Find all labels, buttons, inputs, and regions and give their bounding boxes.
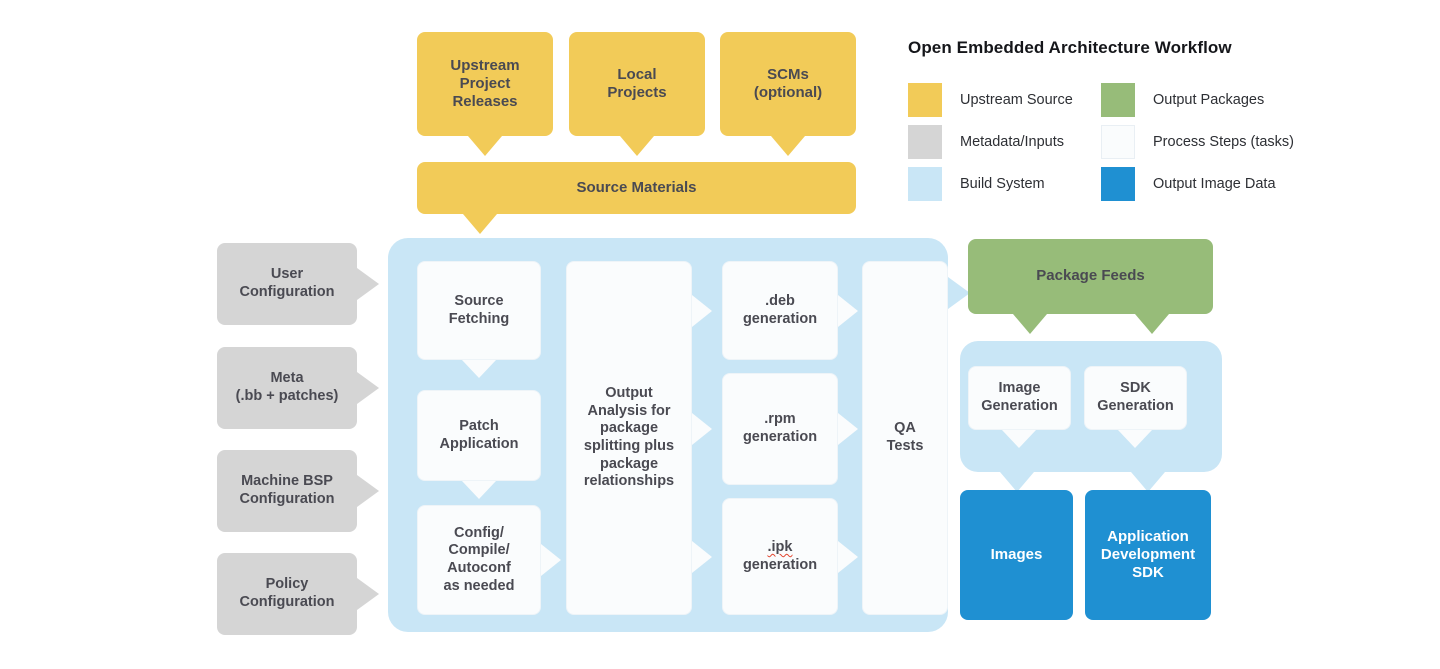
- task-deb-generation[interactable]: .deb generation: [722, 261, 838, 360]
- connector-local-projects-to-source-materials: [620, 136, 654, 156]
- node-label-generation: generation: [743, 557, 817, 573]
- connector-deb-to-qa-tests: [838, 295, 858, 327]
- node-label: Upstream Project Releases: [444, 57, 525, 112]
- node-policy-configuration[interactable]: Policy Configuration: [217, 553, 357, 635]
- node-package-feeds[interactable]: Package Feeds: [968, 239, 1213, 314]
- node-label: Source Fetching: [443, 293, 515, 328]
- legend-label: Metadata/Inputs: [960, 134, 1064, 150]
- connector-meta-to-build-system: [357, 372, 379, 404]
- upstream-source-swatch-icon: [908, 83, 942, 117]
- connector-output-panel-to-images: [1000, 472, 1034, 492]
- legend-item-upstream-source: Upstream Source: [908, 83, 1073, 117]
- connector-output-analysis-to-rpm: [692, 413, 712, 445]
- connector-policy-configuration-to-build-system: [357, 578, 379, 610]
- build-system-swatch-icon: [908, 167, 942, 201]
- node-label: .ipkgeneration: [737, 539, 823, 574]
- task-image-generation[interactable]: Image Generation: [968, 366, 1071, 430]
- legend-label: Build System: [960, 176, 1045, 192]
- task-sdk-generation[interactable]: SDK Generation: [1084, 366, 1187, 430]
- connector-output-analysis-to-deb: [692, 295, 712, 327]
- node-label: Output Analysis for package splitting pl…: [578, 385, 680, 491]
- node-label: Package Feeds: [1030, 267, 1150, 285]
- output-packages-swatch-icon: [1101, 83, 1135, 117]
- connector-package-feeds-to-image-generation: [1013, 314, 1047, 334]
- node-machine-bsp-configuration[interactable]: Machine BSP Configuration: [217, 450, 357, 532]
- node-label: QA Tests: [881, 420, 930, 455]
- legend-title: Open Embedded Architecture Workflow: [908, 38, 1232, 58]
- node-label: Images: [985, 546, 1049, 564]
- node-label: SDK Generation: [1091, 380, 1180, 415]
- connector-output-panel-to-application-sdk: [1131, 472, 1165, 492]
- process-steps-swatch-icon: [1101, 125, 1135, 159]
- legend-item-metadata-inputs: Metadata/Inputs: [908, 125, 1064, 159]
- legend: Open Embedded Architecture Workflow Upst…: [908, 38, 1308, 198]
- task-ipk-generation[interactable]: .ipkgeneration: [722, 498, 838, 615]
- output-image-data-swatch-icon: [1101, 167, 1135, 201]
- node-label-ipk: .ipk: [768, 539, 793, 555]
- node-user-configuration[interactable]: User Configuration: [217, 243, 357, 325]
- connector-user-configuration-to-build-system: [357, 268, 379, 300]
- node-scms-optional[interactable]: SCMs (optional): [720, 32, 856, 136]
- legend-item-build-system: Build System: [908, 167, 1045, 201]
- legend-item-output-image-data: Output Image Data: [1101, 167, 1276, 201]
- node-label: .deb generation: [737, 293, 823, 328]
- connector-scms-to-source-materials: [771, 136, 805, 156]
- connector-upstream-to-source-materials: [468, 136, 502, 156]
- connector-output-analysis-to-ipk: [692, 541, 712, 573]
- task-output-analysis[interactable]: Output Analysis for package splitting pl…: [566, 261, 692, 615]
- diagram-canvas: Open Embedded Architecture Workflow Upst…: [0, 0, 1440, 669]
- connector-rpm-to-qa-tests: [838, 413, 858, 445]
- node-upstream-project-releases[interactable]: Upstream Project Releases: [417, 32, 553, 136]
- connector-build-system-to-package-feeds: [948, 277, 970, 309]
- legend-label: Process Steps (tasks): [1153, 134, 1294, 150]
- connector-source-fetching-to-patch-application: [462, 360, 496, 378]
- legend-item-process-steps: Process Steps (tasks): [1101, 125, 1294, 159]
- node-label: Application Development SDK: [1095, 528, 1201, 583]
- task-qa-tests[interactable]: QA Tests: [862, 261, 948, 615]
- node-label: Machine BSP Configuration: [233, 473, 340, 508]
- connector-patch-application-to-config-compile: [462, 481, 496, 499]
- node-local-projects[interactable]: Local Projects: [569, 32, 705, 136]
- connector-source-materials-to-build-system: [463, 214, 497, 234]
- task-patch-application[interactable]: Patch Application: [417, 390, 541, 481]
- legend-label: Upstream Source: [960, 92, 1073, 108]
- connector-image-generation-to-images: [1002, 430, 1036, 448]
- connector-machine-bsp-to-build-system: [357, 475, 379, 507]
- node-label: User Configuration: [233, 266, 340, 301]
- task-rpm-generation[interactable]: .rpm generation: [722, 373, 838, 485]
- task-config-compile-autoconf[interactable]: Config/ Compile/ Autoconf as needed: [417, 505, 541, 615]
- legend-label: Output Image Data: [1153, 176, 1276, 192]
- node-images[interactable]: Images: [960, 490, 1073, 620]
- metadata-inputs-swatch-icon: [908, 125, 942, 159]
- node-label: Policy Configuration: [233, 576, 340, 611]
- node-label: Image Generation: [975, 380, 1064, 415]
- node-meta-bb-patches[interactable]: Meta (.bb + patches): [217, 347, 357, 429]
- node-label: Source Materials: [570, 179, 702, 197]
- node-label: Patch Application: [434, 418, 525, 453]
- connector-ipk-to-qa-tests: [838, 541, 858, 573]
- connector-config-compile-to-output-analysis: [541, 544, 561, 576]
- node-source-materials[interactable]: Source Materials: [417, 162, 856, 214]
- node-label: Config/ Compile/ Autoconf as needed: [438, 525, 521, 596]
- node-label: .rpm generation: [737, 411, 823, 446]
- node-label: Local Projects: [601, 66, 672, 103]
- node-label: Meta (.bb + patches): [230, 370, 345, 405]
- legend-item-output-packages: Output Packages: [1101, 83, 1264, 117]
- legend-label: Output Packages: [1153, 92, 1264, 108]
- task-source-fetching[interactable]: Source Fetching: [417, 261, 541, 360]
- node-application-development-sdk[interactable]: Application Development SDK: [1085, 490, 1211, 620]
- node-label: SCMs (optional): [748, 66, 828, 103]
- connector-sdk-generation-to-application-sdk: [1118, 430, 1152, 448]
- connector-package-feeds-to-sdk-generation: [1135, 314, 1169, 334]
